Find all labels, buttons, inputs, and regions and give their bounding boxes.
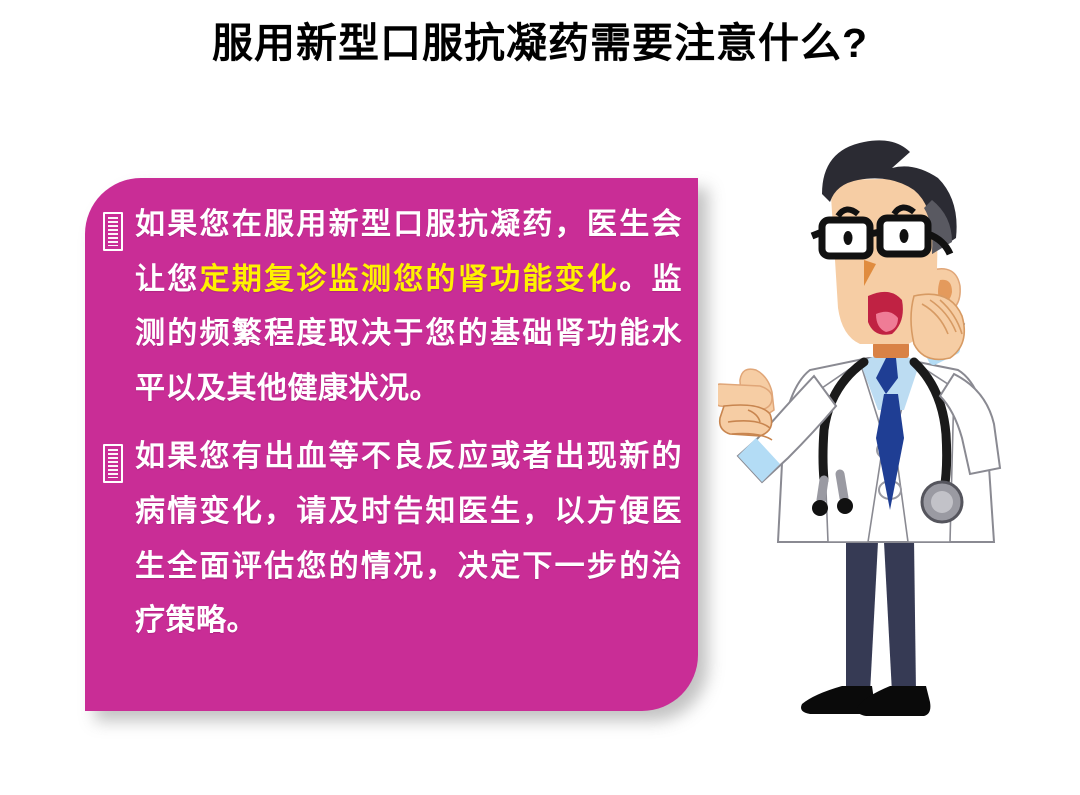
bullet-item: 如果您有出血等不良反应或者出现新的病情变化，请及时告知医生，以方便医生全面评估您… (103, 430, 682, 648)
pointing-hand-icon (718, 369, 774, 440)
page-title: 服用新型口服抗凝药需要注意什么? (0, 18, 1080, 69)
shoes-icon (801, 686, 930, 716)
collar-band-icon (873, 342, 909, 358)
doctor-illustration (718, 138, 1063, 738)
bullet-marker-icon (103, 444, 123, 483)
content-panel: 如果您在服用新型口服抗凝药，医生会让您定期复诊监测您的肾功能变化。监测的频繁程度… (85, 178, 698, 711)
bullet-segment-text: 如果您有出血等不良反应或者出现新的病情变化，请及时告知医生，以方便医生全面评估您… (135, 440, 682, 637)
bullet-item: 如果您在服用新型口服抗凝药，医生会让您定期复诊监测您的肾功能变化。监测的频繁程度… (103, 198, 682, 416)
bullet-segment-highlight: 定期复诊监测您的肾功能变化 (200, 263, 620, 296)
bullet-text: 如果您有出血等不良反应或者出现新的病情变化，请及时告知医生，以方便医生全面评估您… (135, 430, 682, 648)
bullet-text: 如果您在服用新型口服抗凝药，医生会让您定期复诊监测您的肾功能变化。监测的频繁程度… (135, 198, 682, 416)
bullet-marker-icon (103, 212, 123, 251)
trousers-icon (846, 538, 916, 693)
